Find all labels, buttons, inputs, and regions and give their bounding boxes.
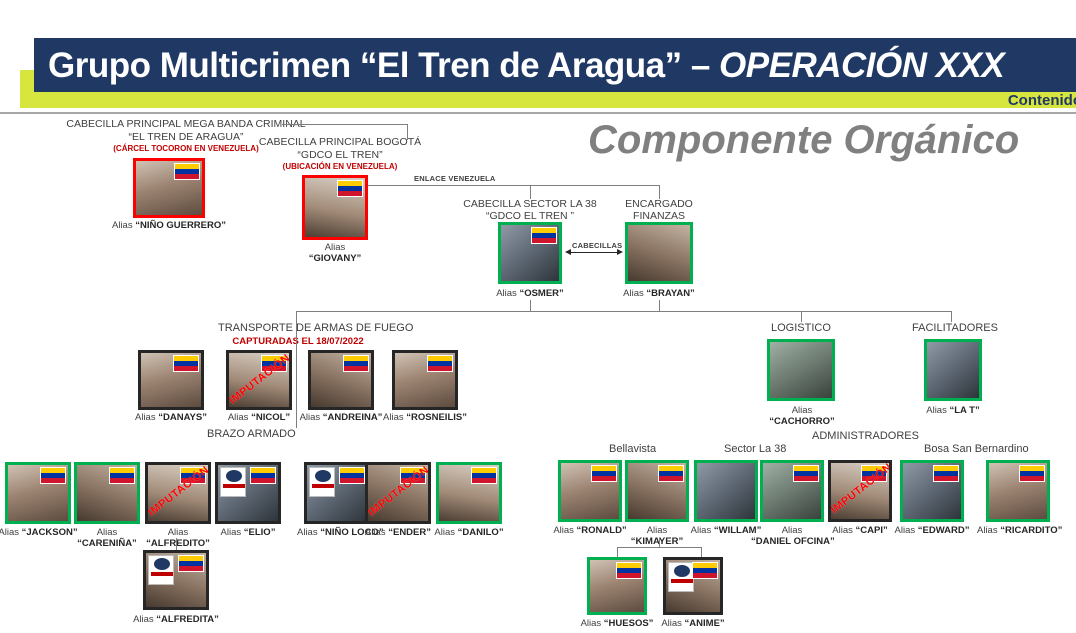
photo-alfredita[interactable] (143, 550, 209, 610)
connector-v-transporte (296, 311, 297, 322)
section-label-facilitadores: FACILITADORES (912, 322, 998, 334)
group-label-bellavista: Bellavista (609, 443, 656, 455)
photo-brayan[interactable] (625, 222, 693, 284)
photo-niño-loco[interactable] (304, 462, 370, 524)
alias-giovany: “GIOVANY” (292, 253, 378, 264)
venezuela-flag-icon (591, 465, 617, 482)
photo-cachorro[interactable] (767, 339, 835, 401)
photo-edward[interactable] (900, 460, 964, 522)
giovany-role-line1: CABECILLA PRINCIPAL BOGOTÁ (252, 136, 428, 148)
alias-danilo: Alias “DANILO” (429, 527, 509, 538)
photo-danays[interactable] (138, 350, 204, 410)
face-image (697, 463, 755, 519)
alias-anime: Alias “ANIME” (655, 618, 731, 629)
alias-alfredito: “ALFREDITO” (138, 538, 218, 549)
face-image (770, 342, 832, 398)
alias-alfredita: Alias “ALFREDITA” (126, 614, 226, 625)
page-title-operation: OPERACIÓN XXX (719, 46, 1004, 85)
venezuela-flag-icon (616, 562, 642, 579)
alias-giovany-prefix: Alias (292, 242, 378, 253)
venezuela-flag-icon (471, 467, 497, 484)
label-enlace-venezuela: ENLACE VENEZUELA (414, 174, 496, 183)
venezuela-flag-icon (933, 465, 959, 482)
photo-capi[interactable]: IMPUTACIÓN (828, 460, 892, 522)
alias-brayan: Alias “BRAYAN” (613, 288, 705, 299)
nino-guerrero-role-line1: CABECILLA PRINCIPAL MEGA BANDA CRIMINAL (62, 118, 310, 130)
venezuela-flag-icon (173, 355, 199, 372)
alias-daniel-ofcina: “DANIEL OFCINA” (751, 536, 833, 547)
alias-capi: Alias “CAPI” (819, 525, 901, 536)
venezuela-flag-icon (692, 562, 718, 579)
page-title-main: Grupo Multicrimen “El Tren de Aragua” – (48, 46, 719, 85)
alias-andreina: Alias “ANDREINA” (297, 412, 385, 423)
connector-v-facilitadores (951, 311, 952, 322)
section-sublabel-transporte: CAPTURADAS EL 18/07/2022 (178, 336, 418, 347)
connector-h-kimayer (617, 547, 702, 548)
brayan-role-line1: ENCARGADO (610, 198, 708, 210)
alias-alfredito-prefix: Alias (138, 527, 218, 538)
connector-v-alfredita (176, 538, 177, 550)
brayan-role-line2: FINANZAS (610, 210, 708, 222)
face-image (927, 342, 979, 398)
venezuela-flag-icon (337, 180, 363, 197)
photo-careniña[interactable] (74, 462, 140, 524)
alias-danays: Alias “DANAYS” (127, 412, 215, 423)
photo-nicol[interactable]: IMPUTACIÓN (226, 350, 292, 410)
photo-ender[interactable]: IMPUTACIÓN (365, 462, 431, 524)
alias-nicol: Alias “NICOL” (215, 412, 303, 423)
venezuela-flag-icon (658, 465, 684, 482)
photo-rosneilis[interactable] (392, 350, 458, 410)
page-title: Grupo Multicrimen “El Tren de Aragua” – … (48, 42, 1076, 90)
venezuela-flag-icon (40, 467, 66, 484)
photo-elio[interactable] (215, 462, 281, 524)
police-shield-icon (148, 555, 174, 585)
connector-cabecillas-arrow (571, 252, 617, 253)
venezuela-flag-icon (174, 163, 200, 180)
face-image (628, 225, 690, 281)
photo-anime[interactable] (663, 557, 723, 615)
venezuela-flag-icon (339, 467, 365, 484)
connector-h-1 (282, 124, 408, 125)
alias-osmer: Alias “OSMER” (485, 288, 575, 299)
connector-v-huesos (617, 547, 618, 557)
venezuela-flag-icon (793, 465, 819, 482)
giovany-note: (UBICACIÓN EN VENEZUELA) (252, 162, 428, 172)
venezuela-flag-icon (343, 355, 369, 372)
photo-ronald[interactable] (558, 460, 622, 522)
connector-v-bus-brayan (659, 300, 660, 311)
photo-nino-guerrero[interactable] (133, 158, 205, 218)
connector-v-brazo-armado (296, 322, 297, 428)
police-shield-icon (220, 467, 246, 497)
alias-nino-guerrero: Alias “NIÑO GUERRERO” (108, 220, 230, 231)
alias-cachorro-prefix: Alias (757, 405, 847, 416)
connector-bus-level4 (296, 311, 952, 312)
venezuela-flag-icon (531, 227, 557, 244)
section-label-transporte: TRANSPORTE DE ARMAS DE FUEGO (218, 322, 413, 334)
section-label-brazo-armado: BRAZO ARMADO (207, 428, 296, 440)
police-shield-icon (668, 562, 694, 592)
alias-la-t: Alias “LA T” (908, 405, 998, 416)
osmer-role-line2: “GDCO EL TREN ” (455, 210, 605, 222)
venezuela-flag-icon (1019, 465, 1045, 482)
osmer-role-line1: CABECILLA SECTOR LA 38 (455, 198, 605, 210)
section-label-logistico: LOGISTICO (771, 322, 831, 334)
alias-huesos: Alias “HUESOS” (579, 618, 655, 629)
connector-v-kimayer (659, 538, 660, 547)
alias-kimayer: “KIMAYER” (616, 536, 698, 547)
photo-osmer[interactable] (498, 222, 562, 284)
photo-andreina[interactable] (308, 350, 374, 410)
venezuela-flag-icon (109, 467, 135, 484)
venezuela-flag-icon (250, 467, 276, 484)
section-heading: Componente Orgánico (588, 118, 1019, 163)
contenido-label: Contenido (1008, 92, 1076, 109)
label-cabecillas: CABECILLAS (572, 241, 622, 250)
photo-daniel-ofcina[interactable] (760, 460, 824, 522)
alias-rosneilis: Alias “ROSNEILIS” (381, 412, 469, 423)
photo-giovany[interactable] (302, 175, 368, 240)
photo-kimayer[interactable] (625, 460, 689, 522)
giovany-role-line2: “GDCO EL TREN” (252, 149, 428, 161)
photo-jackson[interactable] (5, 462, 71, 524)
section-label-administradores: ADMINISTRADORES (812, 430, 919, 442)
photo-willam[interactable] (694, 460, 758, 522)
venezuela-flag-icon (178, 555, 204, 572)
photo-la-t[interactable] (924, 339, 982, 401)
slide-canvas: Grupo Multicrimen “El Tren de Aragua” – … (0, 0, 1076, 633)
police-shield-icon (309, 467, 335, 497)
alias-ender: Alias “ENDER” (358, 527, 438, 538)
photo-ricardito[interactable] (986, 460, 1050, 522)
venezuela-flag-icon (427, 355, 453, 372)
alias-cachorro: “CACHORRO” (757, 416, 847, 427)
connector-v-anime (701, 547, 702, 557)
photo-danilo[interactable] (436, 462, 502, 524)
alias-ricardito: Alias “RICARDITO” (977, 525, 1059, 536)
photo-alfredito[interactable]: IMPUTACIÓN (145, 462, 211, 524)
alias-careniña-prefix: Alias (67, 527, 147, 538)
alias-elio: Alias “ELIO” (208, 527, 288, 538)
alias-edward: Alias “EDWARD” (891, 525, 973, 536)
connector-v-brayan (659, 185, 660, 199)
alias-careniña: “CARENIÑA” (67, 538, 147, 549)
connector-v-bus-osmer (530, 300, 531, 311)
connector-enlace-venezuela (368, 185, 660, 186)
header-rule (0, 112, 1076, 114)
connector-v-logistico (801, 311, 802, 322)
connector-v-osmer (530, 185, 531, 199)
group-label-bosa-san-bernardino: Bosa San Bernardino (924, 443, 1029, 455)
group-label-sector-la-38: Sector La 38 (724, 443, 786, 455)
photo-huesos[interactable] (587, 557, 647, 615)
